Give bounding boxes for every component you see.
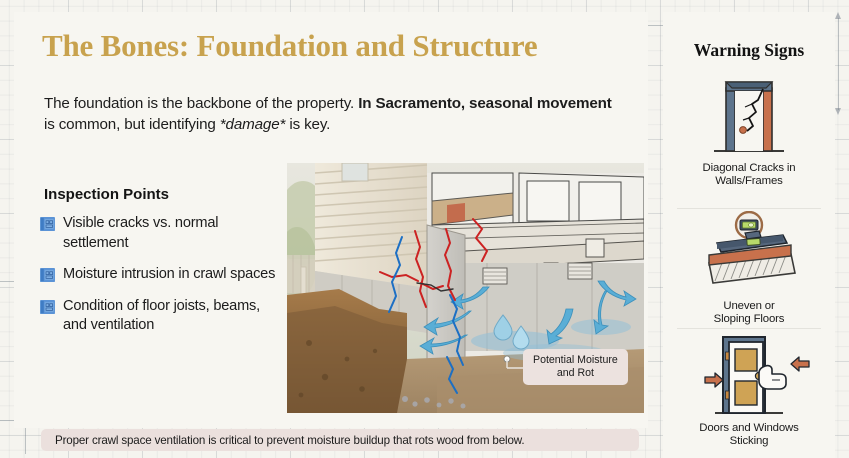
warning-signs-title: Warning Signs <box>663 40 835 61</box>
warning-sign-label: Doors and Windows Sticking <box>663 422 835 449</box>
warning-sign-label: Uneven or Sloping Floors <box>663 300 835 327</box>
warning-sign-item[interactable]: Diagonal Cracks in Walls/Frames <box>663 72 835 189</box>
slide-root: The Bones: Foundation and Structure The … <box>0 0 849 458</box>
dimension-arrow-right-up <box>835 12 841 19</box>
blueprint-icon <box>40 217 55 231</box>
subtitle-part-3: is key. <box>285 116 330 133</box>
blueprint-icon <box>40 300 55 314</box>
potential-moisture-callout: Potential Moisture and Rot <box>523 349 628 385</box>
list-item[interactable]: Condition of floor joists, beams, and ve… <box>40 297 278 336</box>
subtitle-part-2: is common, but identifying <box>44 116 220 133</box>
warning-signs-panel: Warning Signs <box>663 12 835 458</box>
page-title: The Bones: Foundation and Structure <box>42 28 537 64</box>
list-item-label: Moisture intrusion in crawl spaces <box>63 265 275 285</box>
bottom-caption-text: Proper crawl space ventilation is critic… <box>55 434 524 447</box>
subtitle-italic-1: *damage* <box>220 116 286 133</box>
bottom-caption-bar: Proper crawl space ventilation is critic… <box>41 429 639 451</box>
list-item[interactable]: Moisture intrusion in crawl spaces <box>40 265 278 285</box>
cracked-door-frame-icon <box>663 72 835 160</box>
warning-sign-item[interactable]: Uneven or Sloping Floors <box>663 210 835 327</box>
sticking-door-icon <box>663 332 835 420</box>
dimension-line-right-vertical <box>838 18 839 110</box>
subtitle-paragraph: The foundation is the backbone of the pr… <box>44 93 614 135</box>
inspection-points-list: Visible cracks vs. normal settlement Moi… <box>40 214 278 348</box>
panel-divider <box>677 328 821 329</box>
panel-divider <box>677 208 821 209</box>
warning-sign-item[interactable]: Doors and Windows Sticking <box>663 332 835 449</box>
list-item-label: Visible cracks vs. normal settlement <box>63 214 278 253</box>
subtitle-bold-1: In Sacramento, seasonal movement <box>358 95 611 112</box>
blueprint-icon <box>40 268 55 282</box>
spirit-level-sloping-floor-icon <box>663 210 835 298</box>
subtitle-part-1: The foundation is the backbone of the pr… <box>44 95 358 112</box>
warning-sign-label: Diagonal Cracks in Walls/Frames <box>663 162 835 189</box>
list-item[interactable]: Visible cracks vs. normal settlement <box>40 214 278 253</box>
list-item-label: Condition of floor joists, beams, and ve… <box>63 297 278 336</box>
dimension-arrow-right-down <box>835 108 841 115</box>
inspection-points-heading: Inspection Points <box>44 186 169 203</box>
